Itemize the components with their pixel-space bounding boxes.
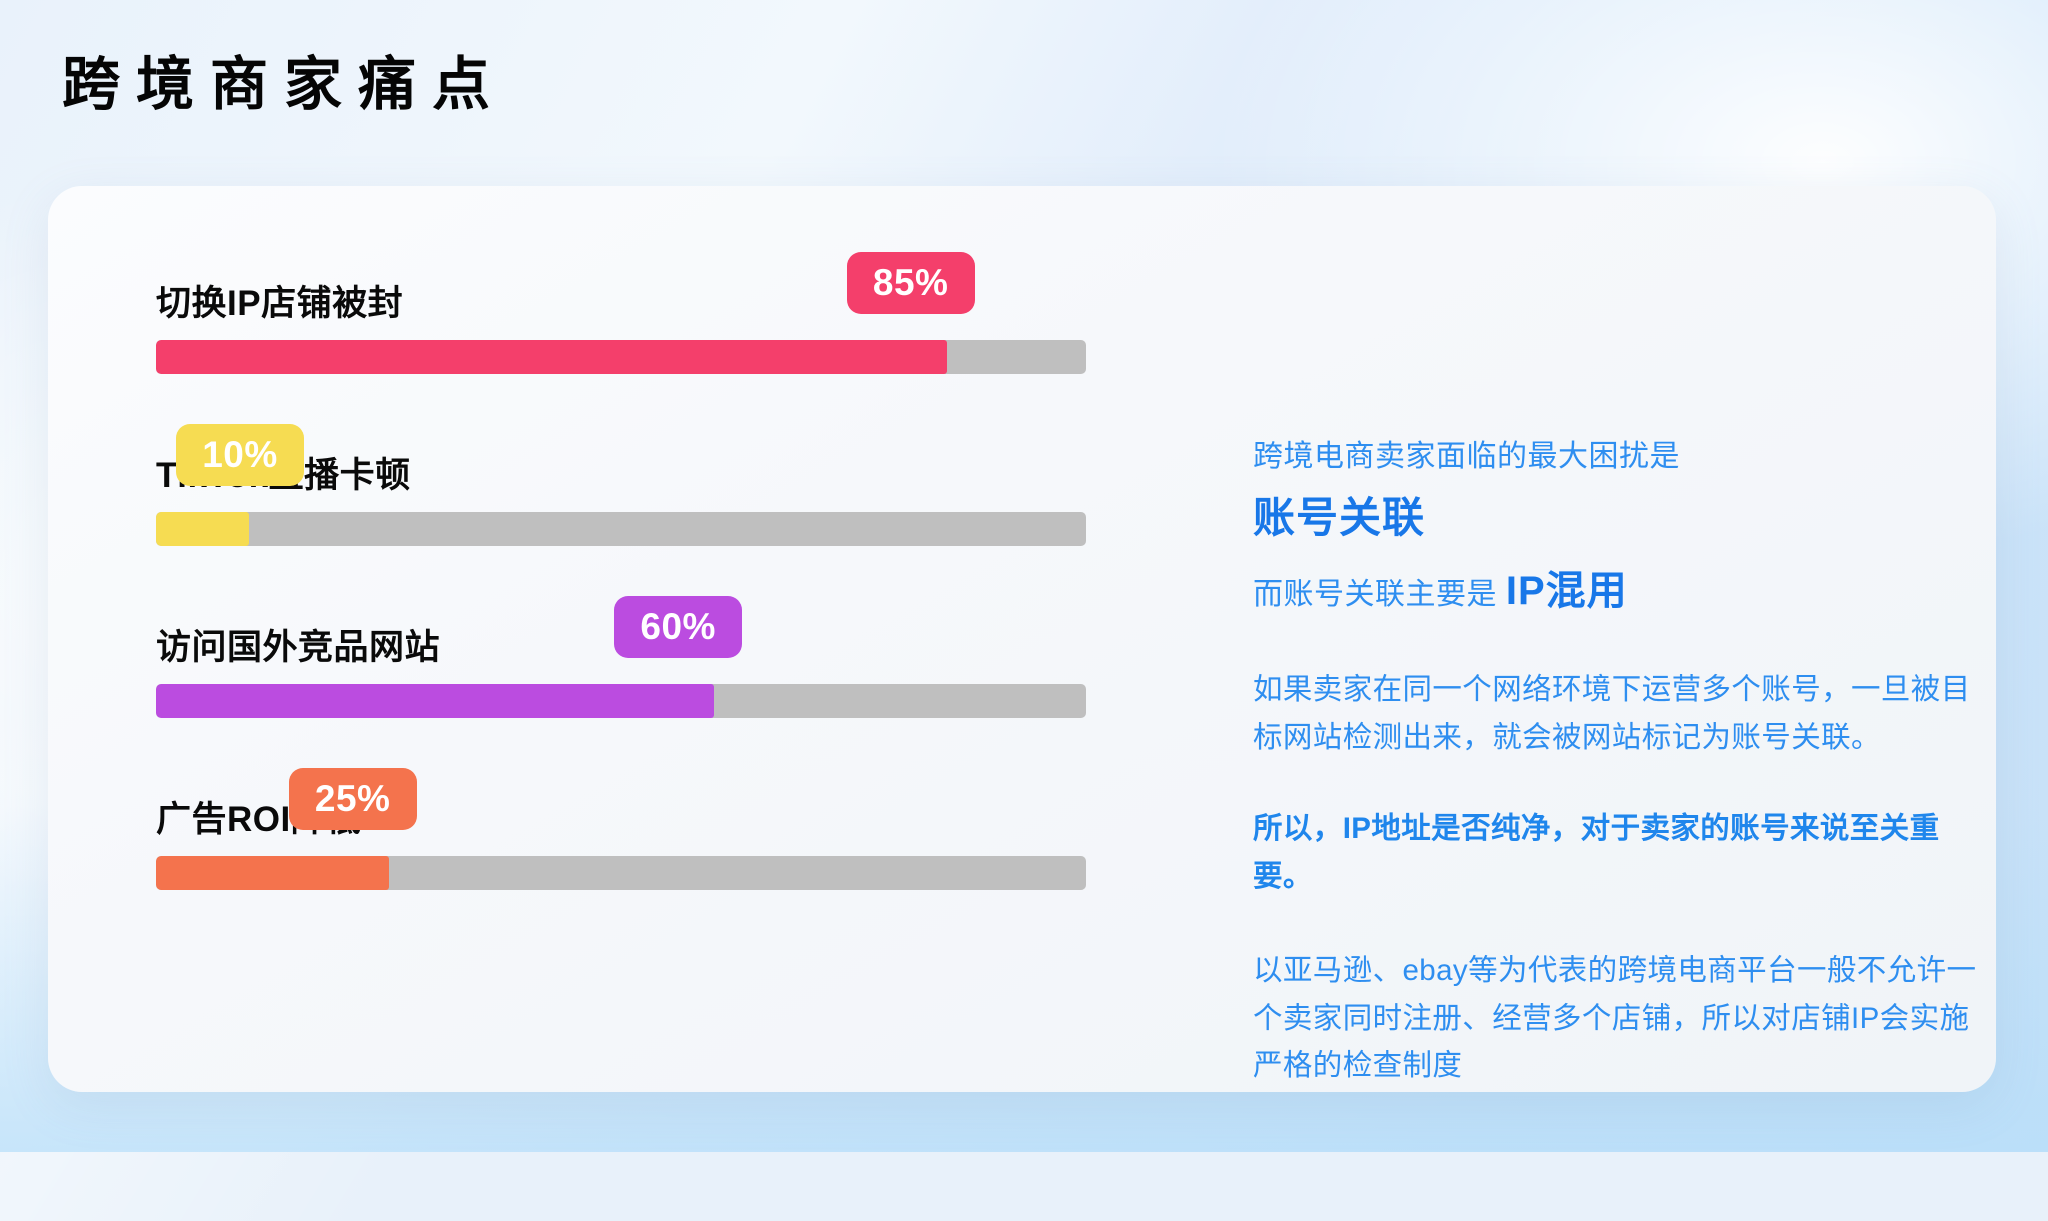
bar-fill <box>156 684 714 718</box>
bar-value-badge: 25% <box>289 768 417 830</box>
bar-row: 广告ROI降低 25% <box>108 748 1148 856</box>
page-title: 跨境商家痛点 <box>62 56 506 114</box>
bar-item: 广告ROI降低 25% <box>108 748 1148 920</box>
copy-subline-highlight: IP混用 <box>1506 569 1628 613</box>
bar-track <box>156 512 1086 546</box>
bar-item: 访问国外竞品网站 60% <box>108 576 1148 748</box>
bar-label: 访问国外竞品网站 <box>156 619 440 670</box>
copy-subline: 而账号关联主要是 IP混用 <box>1253 563 1998 620</box>
bar-item: TikTok直播卡顿 10% <box>108 404 1148 576</box>
copy-headline: 账号关联 <box>1253 493 1998 543</box>
copy-paragraph-3: 以亚马逊、ebay等为代表的跨境电商平台一般不允许一个卖家同时注册、经营多个店铺… <box>1253 947 1998 1090</box>
bar-value-badge: 85% <box>847 252 975 314</box>
content-card: 切换IP店铺被封 85% TikTok直播卡顿 10% 访问国外竞品网站 60% <box>48 186 1996 1092</box>
bar-item: 切换IP店铺被封 85% <box>108 232 1148 404</box>
copy-paragraph-1: 如果卖家在同一个网络环境下运营多个账号，一旦被目标网站检测出来，就会被网站标记为… <box>1253 666 1998 762</box>
bar-fill <box>156 512 249 546</box>
bar-label: 切换IP店铺被封 <box>156 275 403 326</box>
pain-point-bar-list: 切换IP店铺被封 85% TikTok直播卡顿 10% 访问国外竞品网站 60% <box>108 232 1148 920</box>
bar-track <box>156 340 1086 374</box>
bar-row: TikTok直播卡顿 10% <box>108 404 1148 512</box>
bar-track <box>156 856 1086 890</box>
bar-value-badge: 10% <box>176 424 304 486</box>
copy-subline-prefix: 而账号关联主要是 <box>1253 578 1506 611</box>
bar-row: 切换IP店铺被封 85% <box>108 232 1148 340</box>
bar-row: 访问国外竞品网站 60% <box>108 576 1148 684</box>
explanation-panel: 跨境电商卖家面临的最大困扰是 账号关联 而账号关联主要是 IP混用 如果卖家在同… <box>1253 436 1998 1090</box>
bar-fill <box>156 340 947 374</box>
bar-fill <box>156 856 389 890</box>
copy-lead: 跨境电商卖家面临的最大困扰是 <box>1253 436 1998 479</box>
bar-value-badge: 60% <box>614 596 742 658</box>
copy-paragraph-2: 所以，IP地址是否纯净，对于卖家的账号来说至关重要。 <box>1253 805 1998 901</box>
bar-track <box>156 684 1086 718</box>
